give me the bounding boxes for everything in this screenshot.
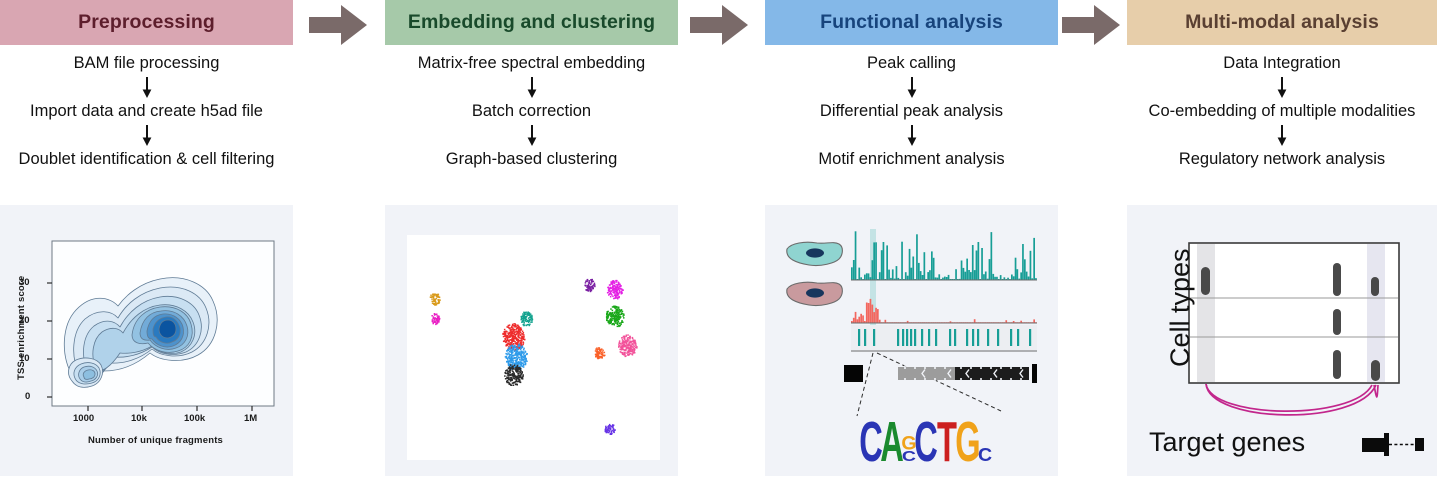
stage-functional-analysis: Functional analysis Peak calling Differe… (765, 0, 1058, 480)
workflow-figure: Preprocessing BAM file processing Import… (0, 0, 1437, 480)
step-item: Regulatory network analysis (1127, 148, 1437, 170)
umap-svg (385, 205, 678, 476)
figure-umap-clusters (385, 205, 678, 476)
y-axis-label: TSS enrichment score (16, 276, 27, 380)
stage-title-multi-modal-analysis: Multi-modal analysis (1127, 0, 1437, 45)
step-item: Data Integration (1127, 52, 1437, 74)
stage-multi-modal-analysis: Multi-modal analysis Data Integration Co… (1127, 0, 1437, 480)
figure-regulatory-network: Cell types Target genes (1127, 205, 1437, 476)
down-arrow-icon (905, 125, 919, 147)
step-item: Doublet identification & cell filtering (0, 148, 293, 170)
x-tick-1000: 1000 (73, 413, 94, 424)
down-arrow-icon (140, 125, 154, 147)
stage-title-functional-analysis: Functional analysis (765, 0, 1058, 45)
figure-genome-browser: CACGCTGC (765, 205, 1058, 476)
step-item: Co-embedding of multiple modalities (1127, 100, 1437, 122)
down-arrow-icon (1275, 77, 1289, 99)
figure-qc-contour-plot: 0 10 20 30 1000 10k 100k 1M Number of un… (0, 205, 293, 476)
step-item: BAM file processing (0, 52, 293, 74)
down-arrow-icon (525, 77, 539, 99)
target-genes-label: Target genes (1149, 427, 1305, 458)
svg-text:T: T (937, 409, 957, 473)
stage-preprocessing: Preprocessing BAM file processing Import… (0, 0, 293, 480)
step-item: Motif enrichment analysis (765, 148, 1058, 170)
x-tick-100k: 100k (184, 413, 205, 424)
step-item: Batch correction (385, 100, 678, 122)
right-arrow-icon (309, 5, 367, 45)
stage-title-embedding-and-clustering: Embedding and clustering (385, 0, 678, 45)
stage-title-preprocessing: Preprocessing (0, 0, 293, 45)
x-tick-10k: 10k (131, 413, 147, 424)
x-tick-1M: 1M (244, 413, 257, 424)
step-item: Matrix-free spectral embedding (385, 52, 678, 74)
cell-types-label: Cell types (1165, 248, 1196, 367)
down-arrow-icon (140, 77, 154, 99)
step-list-functional-analysis: Peak calling Differential peak analysis … (765, 52, 1058, 170)
step-item: Peak calling (765, 52, 1058, 74)
step-item: Import data and create h5ad file (0, 100, 293, 122)
motif-sequence-logo: CACGCTGC (859, 409, 992, 473)
step-list-multi-modal-analysis: Data Integration Co-embedding of multipl… (1127, 52, 1437, 170)
step-list-embedding-and-clustering: Matrix-free spectral embedding Batch cor… (385, 52, 678, 170)
svg-text:C: C (914, 409, 938, 473)
right-arrow-icon (1062, 5, 1120, 45)
step-item: Differential peak analysis (765, 100, 1058, 122)
down-arrow-icon (525, 125, 539, 147)
stage-embedding-and-clustering: Embedding and clustering Matrix-free spe… (385, 0, 678, 480)
y-tick-0: 0 (25, 391, 30, 402)
right-arrow-icon (690, 5, 748, 45)
svg-text:A: A (880, 409, 904, 473)
down-arrow-icon (1275, 125, 1289, 147)
svg-text:G: G (955, 409, 980, 473)
genome-browser-svg: CACGCTGC (765, 205, 1058, 476)
x-axis-label: Number of unique fragments (88, 435, 223, 446)
step-list-preprocessing: BAM file processing Import data and crea… (0, 52, 293, 170)
svg-text:C: C (978, 445, 992, 465)
step-item: Graph-based clustering (385, 148, 678, 170)
down-arrow-icon (905, 77, 919, 99)
